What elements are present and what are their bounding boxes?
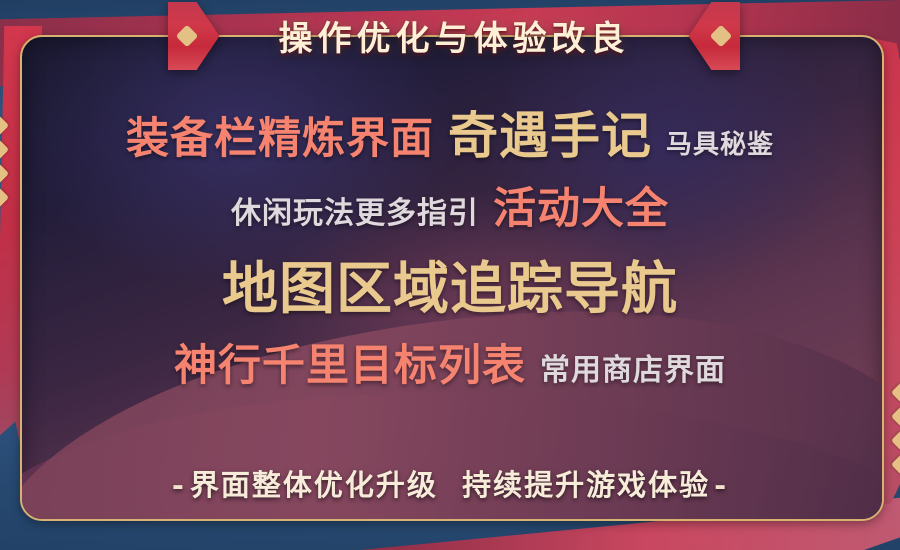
- feature-item: 休闲玩法更多指引: [231, 188, 479, 232]
- footer-text-secondary: 持续提升游戏体验: [462, 468, 710, 502]
- feature-row: 休闲玩法更多指引 活动大全: [0, 174, 900, 236]
- feature-row: 地图区域追踪导航: [0, 244, 900, 325]
- feature-item: 地图区域追踪导航: [222, 244, 678, 325]
- footer-tagline: -界面整体优化升级 持续提升游戏体验-: [0, 462, 900, 504]
- feature-item: 神行千里目标列表: [174, 331, 526, 393]
- feature-item: 活动大全: [493, 174, 669, 236]
- feature-item: 装备栏精炼界面: [126, 104, 434, 166]
- footer-dash-left: -: [168, 468, 190, 502]
- title-banner: 操作优化与体验改良: [168, 2, 740, 70]
- footer-text-primary: 界面整体优化升级: [190, 468, 438, 502]
- feature-row: 装备栏精炼界面 奇遇手记 马具秘鉴: [0, 96, 900, 168]
- feature-item: 奇遇手记: [448, 96, 652, 168]
- footer-dash-right: -: [710, 468, 732, 502]
- feature-item: 常用商店界面: [540, 345, 726, 389]
- feature-list: 装备栏精炼界面 奇遇手记 马具秘鉴 休闲玩法更多指引 活动大全 地图区域追踪导航…: [0, 94, 900, 393]
- right-diamond-rail: [894, 385, 900, 472]
- feature-item: 马具秘鉴: [666, 124, 774, 161]
- feature-row: 神行千里目标列表 常用商店界面: [0, 331, 900, 393]
- page-title: 操作优化与体验改良: [168, 2, 740, 70]
- promo-banner-stage: 操作优化与体验改良 装备栏精炼界面 奇遇手记 马具秘鉴 休闲玩法更多指引 活动大…: [0, 0, 900, 550]
